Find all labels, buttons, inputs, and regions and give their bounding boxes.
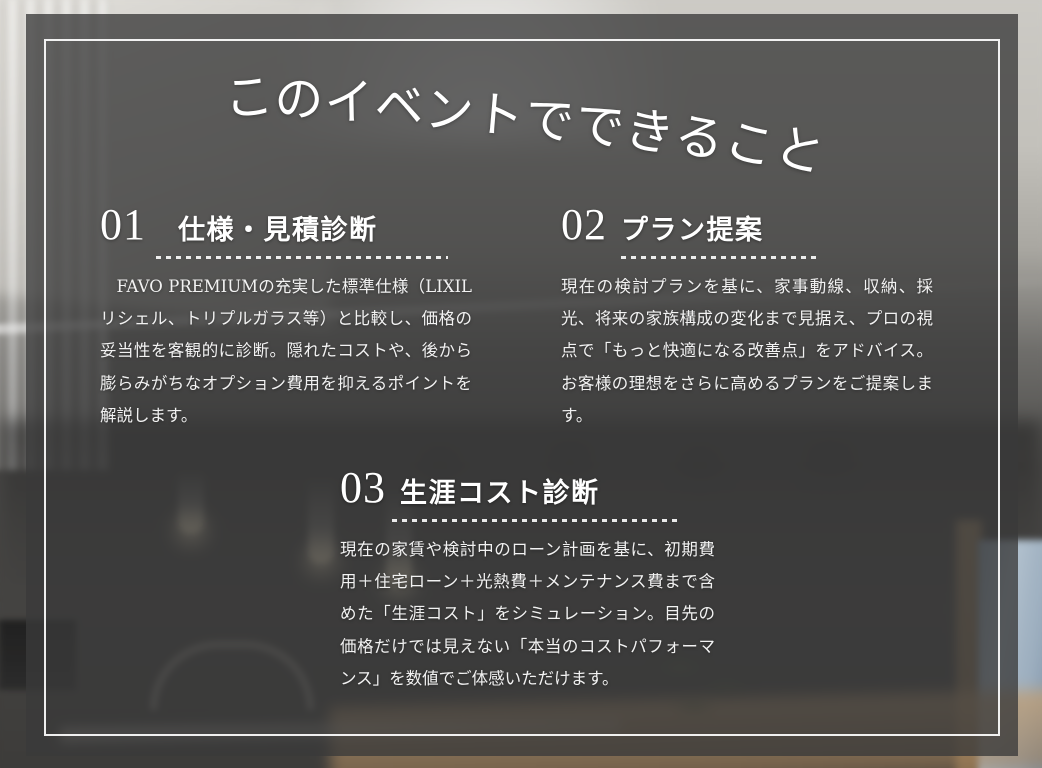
section-03-number: 03 — [340, 466, 386, 510]
page-title-char: こ — [221, 56, 276, 131]
section-02-dashed-rule — [621, 256, 821, 259]
section-03-title: 生涯コスト診断 — [400, 479, 600, 509]
page-title-char: ト — [472, 74, 527, 149]
section-01-body: FAVO PREMIUMの充実した標準仕様（LIXILリシェル、トリプルガラス等… — [100, 271, 472, 432]
page-title-char: ン — [423, 70, 476, 143]
page-title: このイベントでできること — [0, 58, 1042, 178]
section-03-header: 03 生涯コスト診断 — [340, 466, 715, 510]
section-02-number: 02 — [561, 203, 607, 247]
section-01: 01 仕様・見積診断 FAVO PREMIUMの充実した標準仕様（LIXILリシ… — [100, 203, 472, 432]
section-01-number: 01 — [100, 203, 146, 247]
page-title-char: イ — [324, 63, 374, 135]
section-02-header: 02 プラン提案 — [561, 203, 933, 247]
section-03-body: 現在の家賃や検討中のローン計画を基に、初期費用＋住宅ローン＋光熱費＋メンテナンス… — [340, 534, 715, 695]
section-01-header: 01 仕様・見積診断 — [100, 203, 472, 247]
page-title-char: ベ — [374, 67, 424, 139]
section-02-title: プラン提案 — [621, 216, 764, 246]
section-02: 02 プラン提案 現在の検討プランを基に、家事動線、収納、採光、将来の家族構成の… — [561, 203, 933, 432]
page-title-char: で — [521, 78, 578, 154]
slide-canvas: このイベントでできること 01 仕様・見積診断 FAVO PREMIUMの充実し… — [0, 0, 1042, 768]
section-03: 03 生涯コスト診断 現在の家賃や検討中のローン計画を基に、初期費用＋住宅ローン… — [340, 466, 715, 695]
slide-content: このイベントでできること 01 仕様・見積診断 FAVO PREMIUMの充実し… — [0, 0, 1042, 768]
page-title-char: の — [272, 59, 325, 132]
section-01-title: 仕様・見積診断 — [178, 216, 378, 246]
section-03-dashed-rule — [392, 519, 677, 522]
section-01-dashed-rule — [156, 256, 448, 259]
section-02-body: 現在の検討プランを基に、家事動線、収納、採光、将来の家族構成の変化まで見据え、プ… — [561, 271, 933, 432]
